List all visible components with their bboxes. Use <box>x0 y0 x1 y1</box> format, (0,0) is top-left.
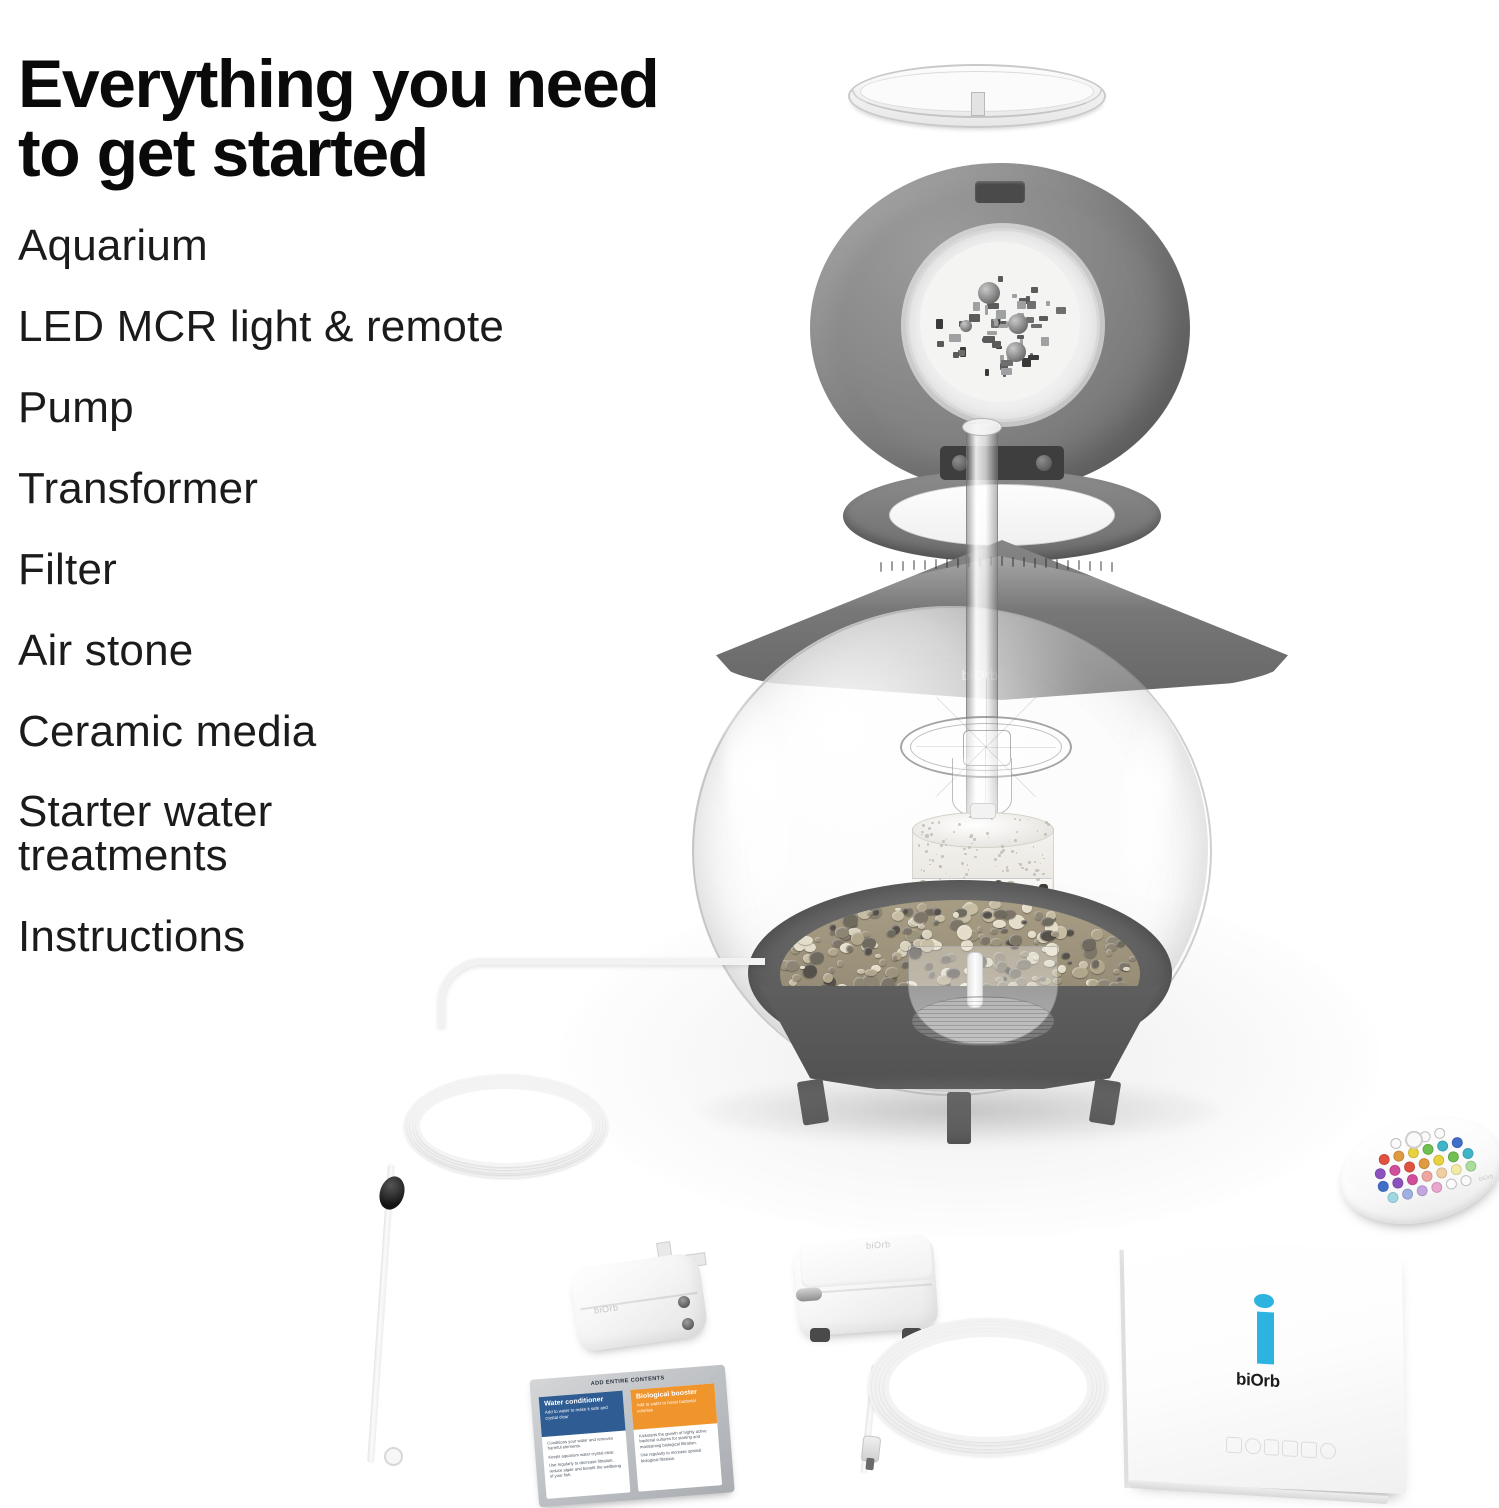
power-cable <box>438 958 765 1027</box>
biorb-logo-text: biOrb <box>1236 1369 1280 1392</box>
lid-hinge <box>940 446 1064 480</box>
booklet-icon <box>1282 1440 1298 1457</box>
remote-button[interactable] <box>1451 1136 1464 1149</box>
remote-button[interactable] <box>1461 1147 1474 1160</box>
remote-button[interactable] <box>1391 1177 1404 1190</box>
booklet-icon <box>1264 1439 1280 1456</box>
remote-button[interactable] <box>1376 1180 1389 1193</box>
remote-button[interactable] <box>1421 1143 1434 1156</box>
glass-lid <box>848 64 1106 128</box>
booklet-icon <box>1226 1437 1242 1454</box>
riser-top-cap <box>962 418 1002 436</box>
remote-button[interactable] <box>1446 1150 1459 1163</box>
remote-button[interactable] <box>1389 1137 1402 1150</box>
airline-tubing-wand <box>358 1164 422 1464</box>
sachet-water-conditioner: Water conditioner Add to water to make i… <box>539 1391 631 1499</box>
remote-button[interactable] <box>1417 1157 1430 1170</box>
remote-button[interactable] <box>1435 1166 1448 1179</box>
sachet-biological-booster: Biological booster Add to water to boost… <box>630 1383 722 1491</box>
base-shadow <box>700 1078 1220 1144</box>
remote-button[interactable] <box>1402 1161 1415 1174</box>
cone-vents <box>880 556 1120 570</box>
check-valve <box>375 1173 408 1213</box>
booklet-icon <box>1245 1438 1261 1455</box>
pump-airline-coil <box>868 1318 1098 1446</box>
remote-button[interactable] <box>1432 1154 1445 1167</box>
booklet-icon <box>1320 1442 1336 1459</box>
remote-button[interactable] <box>1436 1139 1449 1152</box>
biorb-logo-airpump: biOrb <box>866 1239 891 1251</box>
info-icon-stem <box>1257 1311 1274 1364</box>
water-treatment-sachets: ADD ENTIRE CONTENTS Water conditioner Ad… <box>529 1365 734 1508</box>
led-circuit-board <box>920 242 1080 402</box>
sachet-bullet: Kickstarts the growth of highly active b… <box>639 1428 714 1450</box>
remote-button[interactable] <box>1378 1153 1391 1166</box>
sachet-bullet: Use regularly to increase optimal biolog… <box>640 1447 715 1464</box>
transformer-plug: biOrb <box>566 1238 722 1358</box>
led-light-lid <box>810 163 1190 493</box>
remote-button[interactable] <box>1373 1167 1386 1180</box>
product-illustration: biOrb <box>0 0 1499 1500</box>
remote-button[interactable] <box>1388 1164 1401 1177</box>
remote-button[interactable] <box>1420 1170 1433 1183</box>
booklet-icon <box>1301 1441 1317 1458</box>
remote-button[interactable] <box>1464 1160 1477 1173</box>
remote-button[interactable] <box>1433 1127 1446 1140</box>
airline-tubing-coil <box>404 1074 600 1170</box>
remote-button[interactable] <box>1449 1163 1462 1176</box>
remote-button[interactable] <box>1405 1173 1418 1186</box>
remote-button[interactable] <box>1392 1150 1405 1163</box>
lid-clip <box>975 181 1025 203</box>
sachet-bullet: Use regularly to decrease filtration, re… <box>549 1457 624 1479</box>
pump-air-nozzle <box>796 1287 823 1302</box>
air-stone-grille <box>912 996 1054 1046</box>
instruction-booklet: biOrb <box>1118 1244 1418 1500</box>
